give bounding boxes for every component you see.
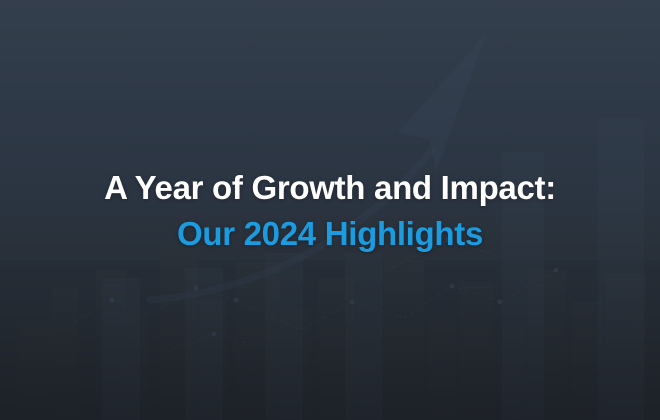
page-subtitle: Our 2024 Highlights <box>177 217 483 250</box>
headline-block: A Year of Growth and Impact: Our 2024 Hi… <box>0 0 660 420</box>
hero-banner: A Year of Growth and Impact: Our 2024 Hi… <box>0 0 660 420</box>
page-title: A Year of Growth and Impact: <box>104 171 556 204</box>
